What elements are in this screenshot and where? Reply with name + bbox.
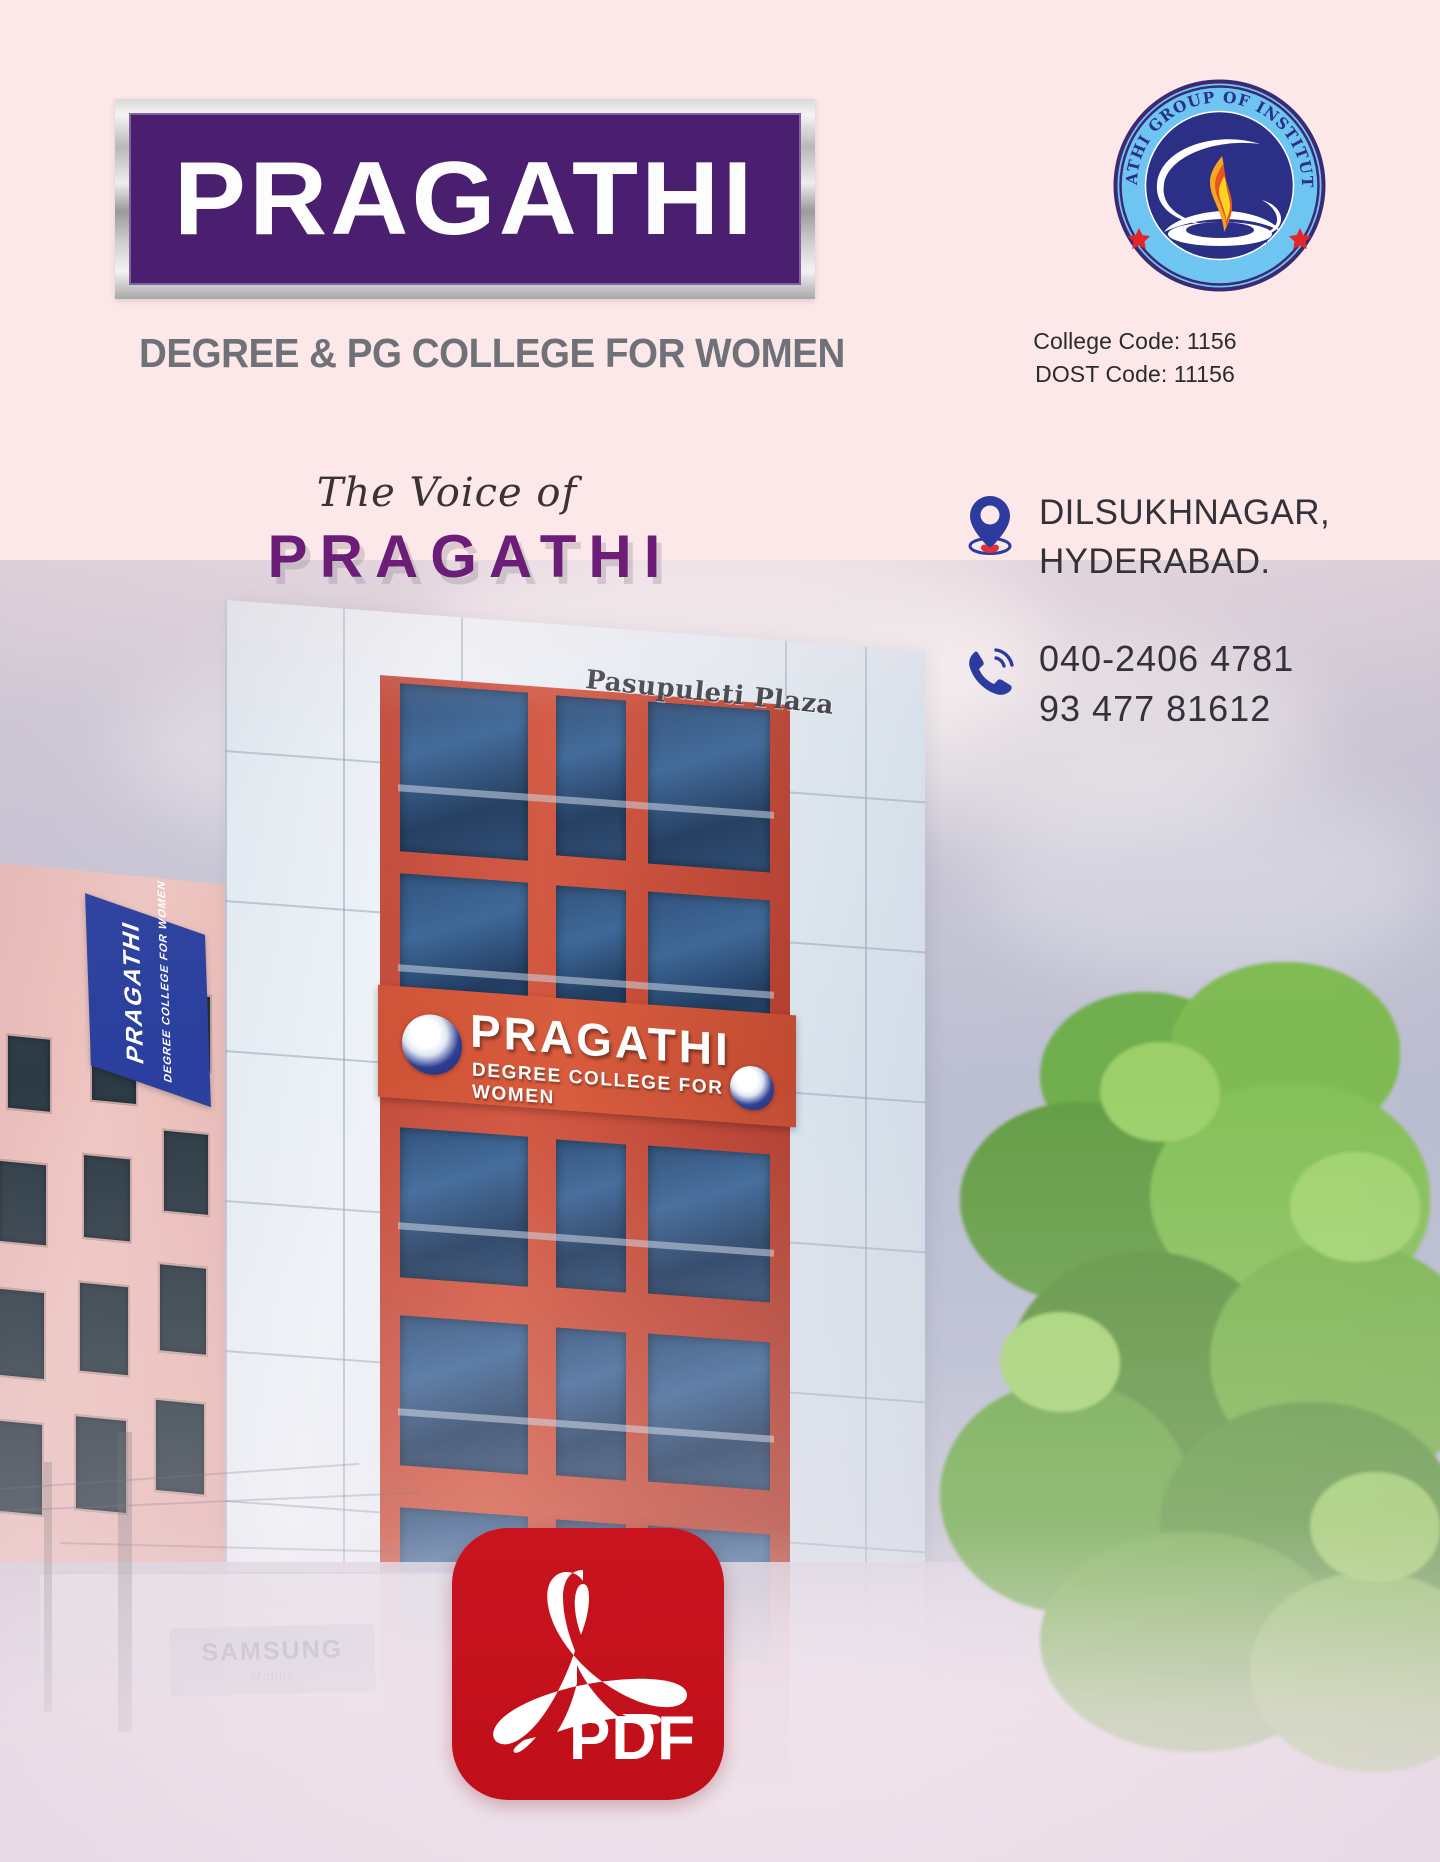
utility-pole <box>118 1432 132 1732</box>
header: PRAGATHI DEGREE & PG COLLEGE FOR WOMEN P… <box>0 0 1440 420</box>
samsung-brand-text: SAMSUNG <box>201 1635 344 1668</box>
phone-ringing-icon <box>965 634 1015 700</box>
samsung-sub-text: Mobile <box>251 1667 296 1683</box>
lamp-flame-emblem-icon: PRAGATHI GROUP OF INSTITUTIONS DILSUKHNA… <box>1112 78 1327 293</box>
samsung-shop-sign: SAMSUNG Mobile <box>169 1623 376 1696</box>
tagline-script-line: The Voice of <box>164 470 730 516</box>
location-line-1: DILSUKHNAGAR, <box>1039 488 1330 537</box>
location-line-2: HYDERABAD. <box>1039 537 1330 586</box>
side-sign-sub: DEGREE COLLEGE FOR WOMEN <box>156 878 175 1084</box>
institution-seal: PRAGATHI GROUP OF INSTITUTIONS DILSUKHNA… <box>1112 78 1327 293</box>
contact-block: DILSUKHNAGAR, HYDERABAD. 040-2406 4781 9… <box>965 488 1385 783</box>
phone-line-1: 040-2406 4781 <box>1039 634 1294 684</box>
facade-seal-left <box>402 1012 462 1076</box>
contact-row-location: DILSUKHNAGAR, HYDERABAD. <box>965 488 1385 586</box>
side-sign-main: PRAGATHI <box>117 917 150 1068</box>
utility-pole <box>44 1462 52 1712</box>
contact-row-phone: 040-2406 4781 93 477 81612 <box>965 634 1385 735</box>
tagline-block: The Voice of PRAGATHI <box>210 470 730 591</box>
dost-code-line: DOST Code: 11156 <box>940 358 1330 391</box>
phone-line-2: 93 477 81612 <box>1039 684 1294 734</box>
location-pin-icon <box>965 488 1015 556</box>
tagline-main-line: PRAGATHI <box>210 522 730 591</box>
pdf-label: PDF <box>569 1708 696 1770</box>
college-codes: College Code: 1156 DOST Code: 11156 <box>940 325 1330 390</box>
college-kind-subtitle: DEGREE & PG COLLEGE FOR WOMEN <box>139 330 797 377</box>
pdf-file-badge[interactable]: PDF <box>452 1528 724 1800</box>
college-wordmark: PRAGATHI <box>174 147 756 251</box>
foreground-tree <box>920 952 1440 1742</box>
wordmark-inner-panel: PRAGATHI <box>129 113 801 285</box>
college-code-line: College Code: 1156 <box>940 325 1330 358</box>
cloud <box>980 780 1440 980</box>
college-wordmark-plaque: PRAGATHI <box>115 99 815 299</box>
location-text: DILSUKHNAGAR, HYDERABAD. <box>1039 488 1330 586</box>
brochure-cover-page: PRAGATHI DEGREE & PG COLLEGE FOR WOMEN P… <box>0 0 1440 1862</box>
phone-text: 040-2406 4781 93 477 81612 <box>1039 634 1294 735</box>
